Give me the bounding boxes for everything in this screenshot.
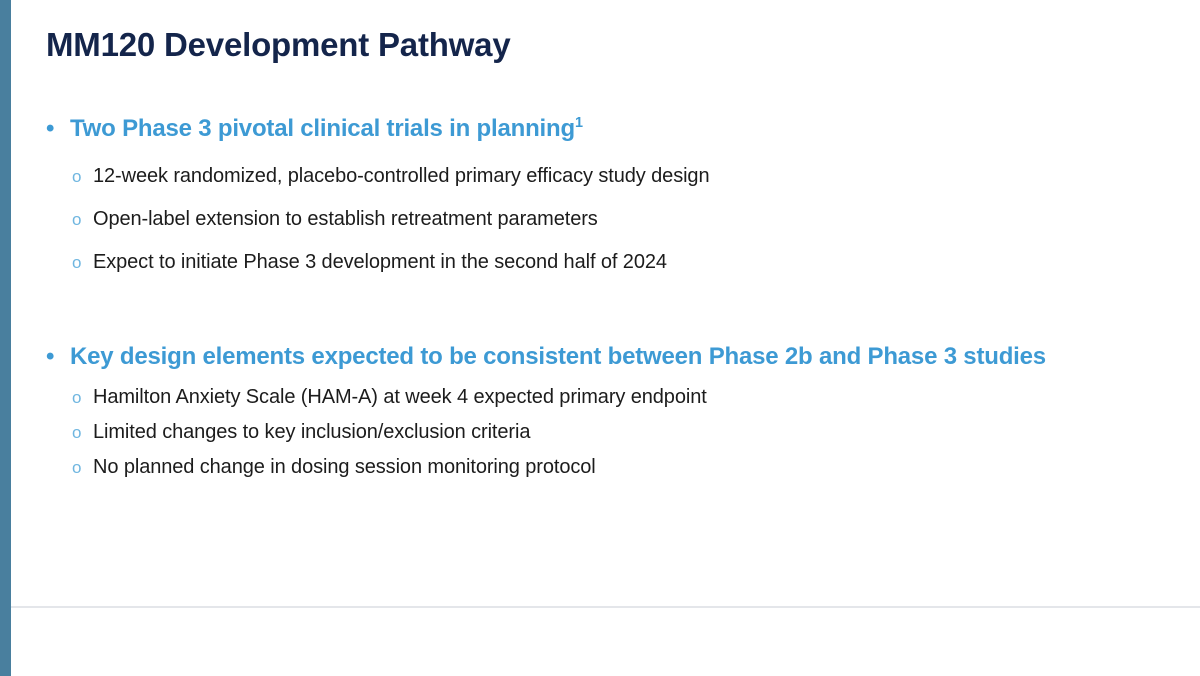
slide-canvas: MM120 Development Pathway •Two Phase 3 p…	[0, 0, 1200, 676]
list-item: o12-week randomized, placebo-controlled …	[0, 163, 1200, 189]
sub-bullet-circle-icon: o	[72, 206, 81, 233]
sub-bullet-circle-icon: o	[72, 163, 81, 190]
section-one-heading: •Two Phase 3 pivotal clinical trials in …	[0, 114, 1200, 144]
footer: MindMed 1. Phase 3 and subsequent clinic…	[0, 607, 1200, 676]
list-item-text: 12-week randomized, placebo-controlled p…	[93, 165, 709, 187]
list-item-text: Limited changes to key inclusion/exclusi…	[93, 421, 530, 443]
bullet-dot-icon: •	[46, 342, 54, 372]
left-accent-bar	[0, 0, 11, 676]
section-two-heading: •Key design elements expected to be cons…	[0, 342, 1200, 372]
section-two-heading-text: Key design elements expected to be consi…	[70, 343, 1046, 370]
footnote-marker: 1	[575, 115, 583, 131]
sub-bullet-circle-icon: o	[72, 384, 81, 411]
list-item-text: Open-label extension to establish retrea…	[93, 208, 598, 230]
sub-bullet-circle-icon: o	[72, 419, 81, 446]
list-item-text: Expect to initiate Phase 3 development i…	[93, 251, 667, 273]
sub-bullet-circle-icon: o	[72, 249, 81, 276]
bullet-dot-icon: •	[46, 114, 54, 144]
list-item: oHamilton Anxiety Scale (HAM-A) at week …	[0, 384, 1200, 410]
list-item-text: No planned change in dosing session moni…	[93, 456, 596, 478]
list-item: oNo planned change in dosing session mon…	[0, 454, 1200, 480]
list-item-text: Hamilton Anxiety Scale (HAM-A) at week 4…	[93, 386, 707, 408]
section-one: •Two Phase 3 pivotal clinical trials in …	[0, 114, 1200, 144]
list-item: oExpect to initiate Phase 3 development …	[0, 249, 1200, 275]
list-item: oOpen-label extension to establish retre…	[0, 206, 1200, 232]
section-one-items: o12-week randomized, placebo-controlled …	[0, 163, 1200, 275]
page-title: MM120 Development Pathway	[46, 26, 510, 64]
section-one-heading-text: Two Phase 3 pivotal clinical trials in p…	[70, 115, 575, 142]
section-two: •Key design elements expected to be cons…	[0, 342, 1200, 372]
section-two-items: oHamilton Anxiety Scale (HAM-A) at week …	[0, 384, 1200, 480]
sub-bullet-circle-icon: o	[72, 454, 81, 481]
list-item: oLimited changes to key inclusion/exclus…	[0, 419, 1200, 445]
